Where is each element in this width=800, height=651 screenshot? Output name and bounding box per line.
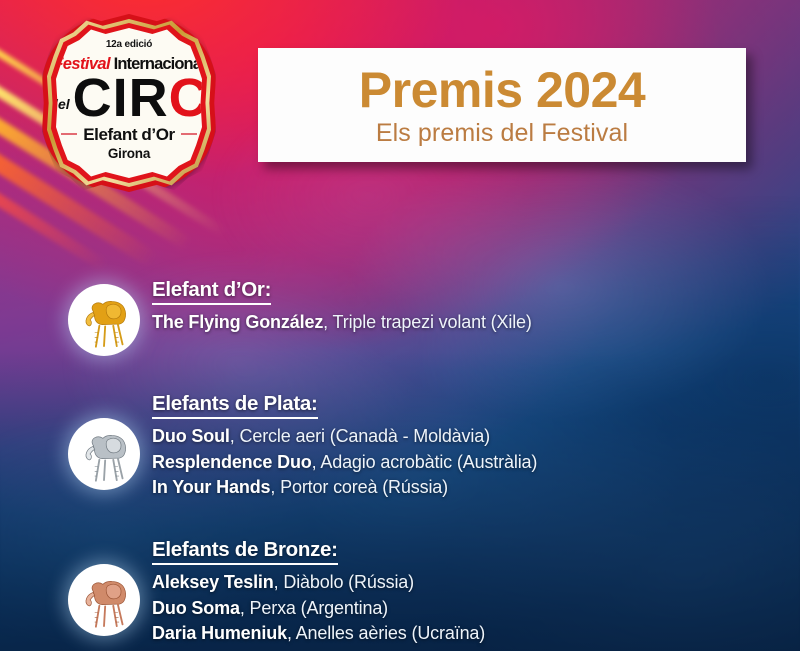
award-winner: Daria Humeniuk, Anelles aèries (Ucraïna) <box>152 621 485 647</box>
award-text-block: Elefants de Bronze: Aleksey Teslin, Diàb… <box>152 538 485 647</box>
winner-discipline: , Triple trapezi volant (Xile) <box>323 312 532 332</box>
award-winner: The Flying González, Triple trapezi vola… <box>152 310 532 336</box>
winner-name: Duo Soma <box>152 598 240 618</box>
winner-name: Aleksey Teslin <box>152 572 274 592</box>
winner-discipline: , Adagio acrobàtic (Austràlia) <box>312 452 538 472</box>
award-winner: In Your Hands, Portor coreà (Rússia) <box>152 475 537 501</box>
award-heading: Elefants de Plata: <box>152 392 318 419</box>
award-winner-list: The Flying González, Triple trapezi vola… <box>152 310 532 336</box>
award-heading: Elefants de Bronze: <box>152 538 338 565</box>
award-heading: Elefant d’Or: <box>152 278 271 305</box>
awards-list: Elefant d’Or: The Flying González, Tripl… <box>0 0 800 651</box>
award-winner: Duo Soma, Perxa (Argentina) <box>152 596 485 622</box>
winner-name: Daria Humeniuk <box>152 623 287 643</box>
award-row: Elefants de Bronze: Aleksey Teslin, Diàb… <box>68 538 485 647</box>
award-text-block: Elefant d’Or: The Flying González, Tripl… <box>152 278 532 336</box>
winner-discipline: , Portor coreà (Rússia) <box>270 477 448 497</box>
award-winner: Duo Soul, Cercle aeri (Canadà - Moldàvia… <box>152 424 537 450</box>
award-winner: Resplendence Duo, Adagio acrobàtic (Aust… <box>152 450 537 476</box>
bronze-elephant-icon <box>68 564 140 636</box>
winner-discipline: , Cercle aeri (Canadà - Moldàvia) <box>230 426 490 446</box>
award-row: Elefant d’Or: The Flying González, Tripl… <box>68 278 532 356</box>
award-text-block: Elefants de Plata: Duo Soul, Cercle aeri… <box>152 392 537 501</box>
winner-name: Duo Soul <box>152 426 230 446</box>
gold-elephant-icon <box>68 284 140 356</box>
winner-discipline: , Anelles aèries (Ucraïna) <box>287 623 485 643</box>
winner-name: In Your Hands <box>152 477 270 497</box>
award-row: Elefants de Plata: Duo Soul, Cercle aeri… <box>68 392 537 501</box>
winner-name: Resplendence Duo <box>152 452 312 472</box>
award-winner-list: Aleksey Teslin, Diàbolo (Rússia) Duo Som… <box>152 570 485 647</box>
winner-discipline: , Diàbolo (Rússia) <box>274 572 414 592</box>
silver-elephant-icon <box>68 418 140 490</box>
award-winner-list: Duo Soul, Cercle aeri (Canadà - Moldàvia… <box>152 424 537 501</box>
winner-name: The Flying González <box>152 312 323 332</box>
award-winner: Aleksey Teslin, Diàbolo (Rússia) <box>152 570 485 596</box>
poster-root: 12a edició Festival Internacional del CI… <box>0 0 800 651</box>
winner-discipline: , Perxa (Argentina) <box>240 598 388 618</box>
